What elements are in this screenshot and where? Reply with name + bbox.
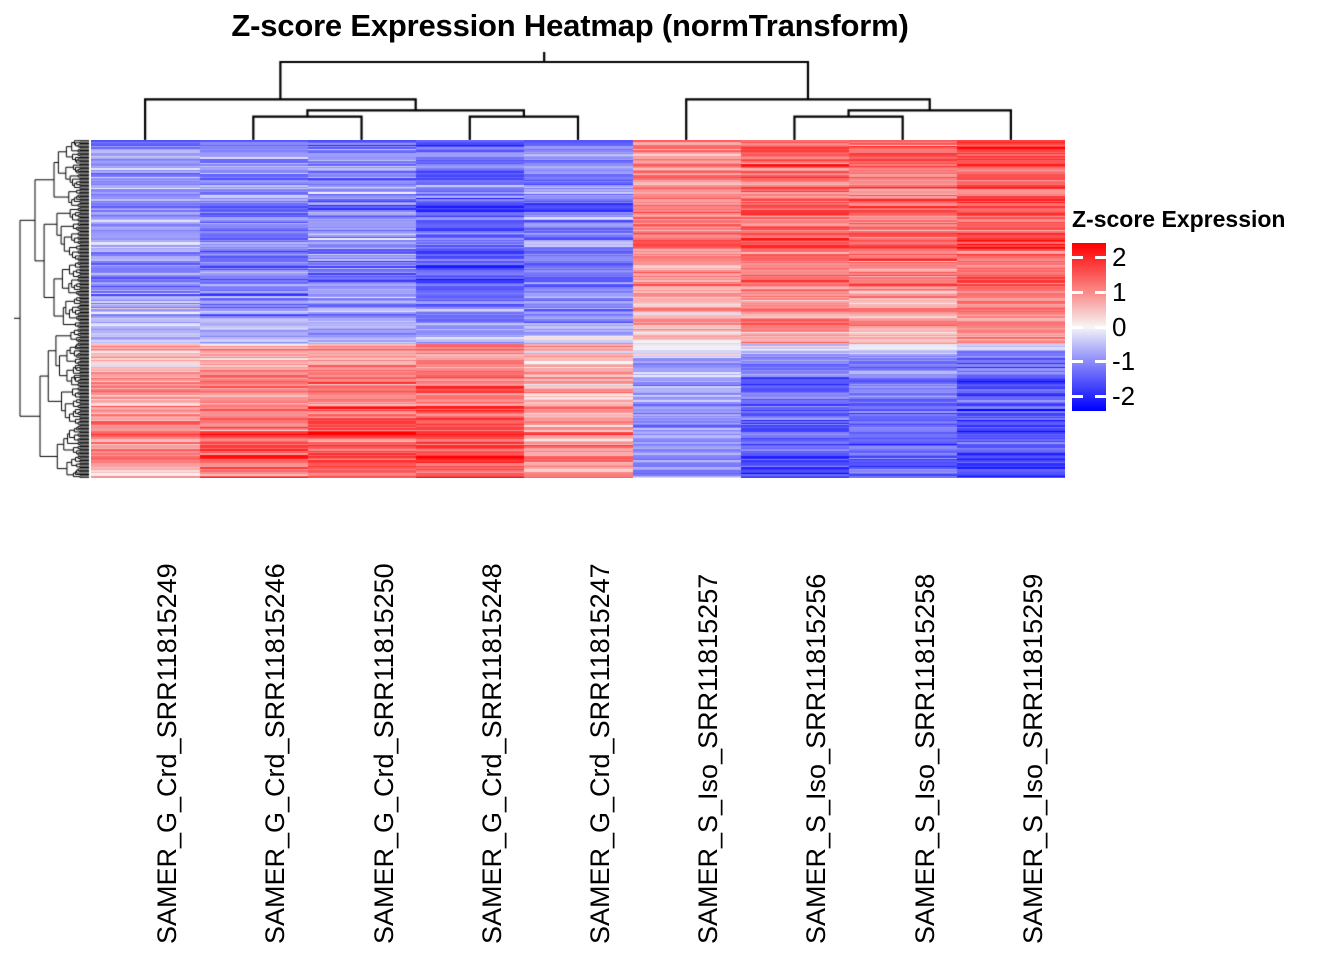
heatmap-body[interactable] — [91, 140, 1065, 478]
colorbar-tick-label: -1 — [1112, 348, 1135, 374]
column-dendrogram — [0, 0, 1344, 145]
colorbar-tick-label: 0 — [1112, 314, 1126, 340]
column-labels: SAMER_G_Crd_SRR11815249SAMER_G_Crd_SRR11… — [91, 484, 1065, 944]
colorbar: 210-1-2 — [1072, 243, 1106, 411]
colorbar-tick-label: -2 — [1112, 383, 1135, 409]
column-label: SAMER_G_Crd_SRR11815246 — [264, 484, 286, 944]
column-label: SAMER_S_Iso_SRR11815259 — [1022, 484, 1044, 944]
legend-title: Z-score Expression — [1072, 206, 1285, 233]
column-label: SAMER_G_Crd_SRR11815250 — [373, 484, 395, 944]
column-label: SAMER_G_Crd_SRR11815249 — [156, 484, 178, 944]
column-label: SAMER_G_Crd_SRR11815248 — [481, 484, 503, 944]
colorbar-tick-label: 2 — [1112, 244, 1126, 270]
column-label: SAMER_S_Iso_SRR11815257 — [697, 484, 719, 944]
row-dendrogram — [0, 0, 95, 500]
column-label: SAMER_S_Iso_SRR11815258 — [914, 484, 936, 944]
heatmap-figure: Z-score Expression Heatmap (normTransfor… — [0, 0, 1344, 960]
column-label: SAMER_G_Crd_SRR11815247 — [589, 484, 611, 944]
color-legend: Z-score Expression 210-1-2 — [1072, 206, 1342, 421]
column-label: SAMER_S_Iso_SRR11815256 — [805, 484, 827, 944]
colorbar-tick-label: 1 — [1112, 279, 1126, 305]
